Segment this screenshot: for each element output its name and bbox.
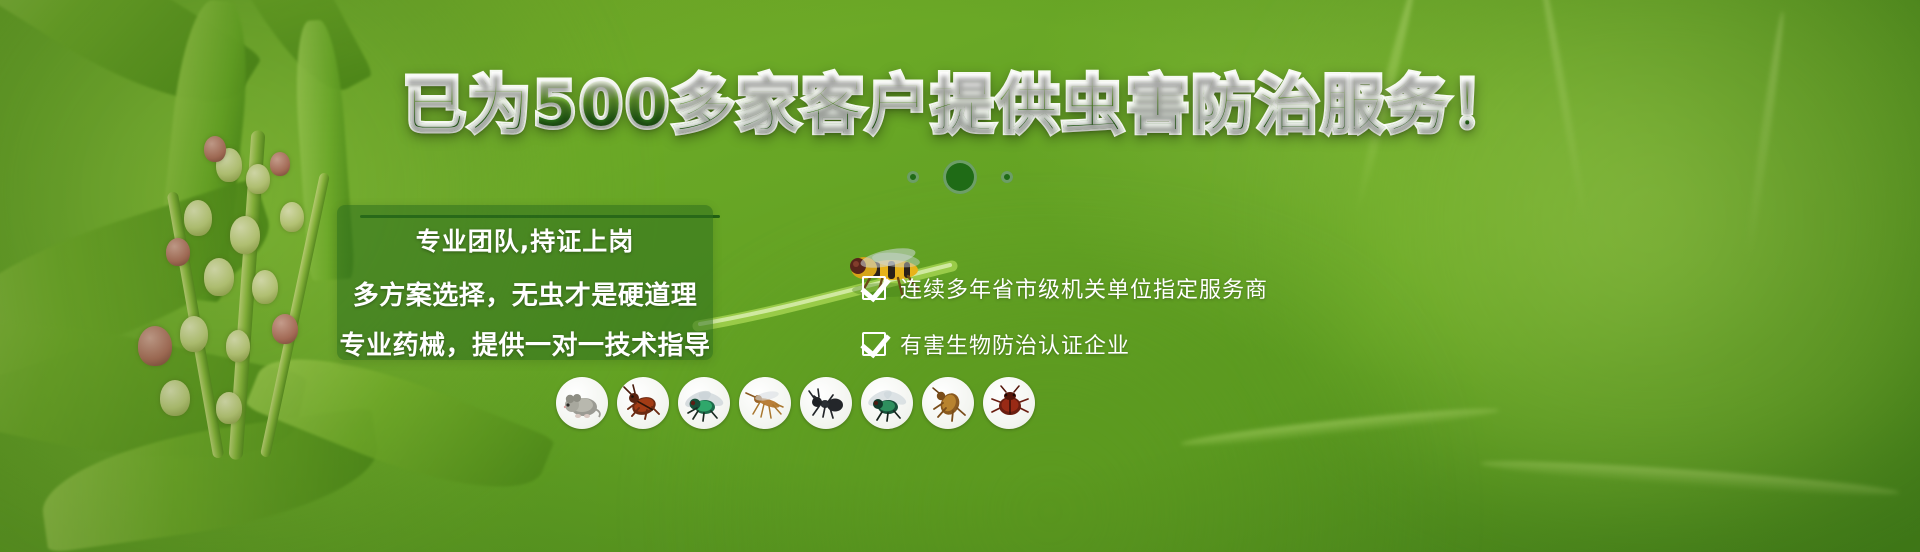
housefly-icon[interactable] bbox=[861, 377, 913, 429]
checkbox-checked-icon bbox=[862, 332, 886, 356]
dot-small-left-icon bbox=[907, 171, 919, 183]
pest-control-hero-banner: 已为500多家客户提供虫害防治服务！ 已为500多家客户提供虫害防治服务！ 专业… bbox=[0, 0, 1920, 552]
bedbug-icon[interactable] bbox=[983, 377, 1035, 429]
checklist-item: 连续多年省市级机关单位指定服务商 bbox=[862, 272, 1268, 304]
checklist-item: 有害生物防治认证企业 bbox=[862, 328, 1268, 360]
mouse-icon[interactable] bbox=[556, 377, 608, 429]
page-title: 已为500多家客户提供虫害防治服务！ bbox=[0, 74, 1920, 136]
pest-type-icon-row bbox=[556, 377, 1035, 429]
checklist-item-label: 连续多年省市级机关单位指定服务商 bbox=[900, 272, 1268, 304]
selling-point-line-2: 多方案选择，无虫才是硬道理 bbox=[320, 275, 730, 312]
checkbox-checked-icon bbox=[862, 276, 886, 300]
selling-point-line-3: 专业药械，提供一对一技术指导 bbox=[320, 325, 730, 362]
cockroach-icon[interactable] bbox=[617, 377, 669, 429]
headline-dot-divider bbox=[0, 160, 1920, 194]
flea-icon[interactable] bbox=[922, 377, 974, 429]
credentials-checklist: 连续多年省市级机关单位指定服务商 有害生物防治认证企业 bbox=[862, 272, 1268, 384]
mosquito-icon[interactable] bbox=[739, 377, 791, 429]
dot-large-center-icon bbox=[943, 160, 977, 194]
selling-point-line-1: 专业团队,持证上岗 bbox=[337, 222, 713, 258]
checklist-item-label: 有害生物防治认证企业 bbox=[900, 328, 1130, 360]
ant-icon[interactable] bbox=[800, 377, 852, 429]
blowfly-icon[interactable] bbox=[678, 377, 730, 429]
dot-small-right-icon bbox=[1001, 171, 1013, 183]
